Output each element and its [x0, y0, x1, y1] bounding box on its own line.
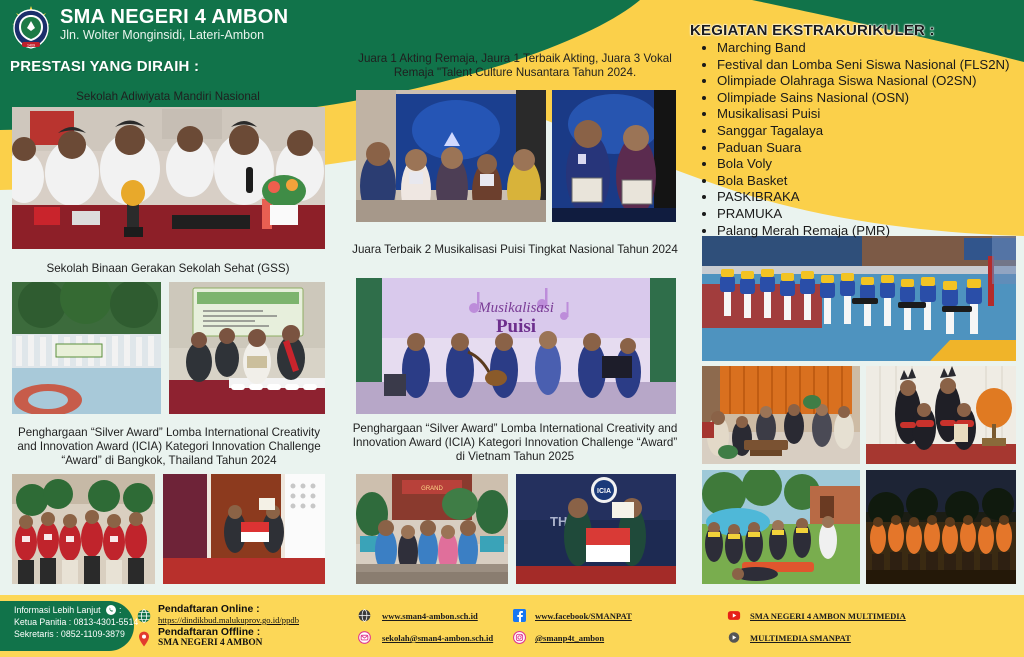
multimedia-smanpat-link[interactable]: MULTIMEDIA SMANPAT [750, 633, 851, 643]
registration-offline-value: SMA NEGERI 4 AMBON [158, 638, 262, 648]
registration-online-label: Pendaftaran Online : [158, 604, 299, 615]
list-item: Marching Band [717, 40, 1024, 57]
extracurricular-title: KEGIATAN EKSTRAKURIKULER : [690, 22, 935, 39]
pmr-first-aid-drill-photo [702, 470, 860, 584]
icia-vietnam-flag-photo: ICIA THE [516, 474, 676, 584]
registration-online-url[interactable]: https://dindikbud.malukuprov.go.id/ppdb [158, 615, 299, 625]
list-item: Palang Merah Remaja (PMR) [717, 223, 1024, 240]
footer-bar: Informasi Lebih Lanjut : Ketua Panitia :… [0, 595, 1024, 657]
email-link[interactable]: sekolah@sman4-ambon.sch.id [382, 633, 493, 643]
list-item: Bola Basket [717, 173, 1024, 190]
school-address: Jln. Wolter Monginsidi, Lateri-Ambon [60, 28, 264, 42]
extracurricular-list: Marching Band Festival dan Lomba Seni Si… [695, 40, 1024, 239]
list-item: Olimpiade Olahraga Siswa Nasional (O2SN) [717, 73, 1024, 90]
globe-icon [137, 609, 150, 622]
info-title-row: Informasi Lebih Lanjut : [14, 605, 121, 617]
list-item: Sanggar Tagalaya [717, 123, 1024, 140]
youtube-multimedia-link[interactable]: SMA NEGERI 4 AMBON MULTIMEDIA [750, 611, 906, 621]
icia-bangkok-flag-photo [163, 474, 325, 584]
list-item: Bola Voly [717, 156, 1024, 173]
school-name: SMA NEGERI 4 AMBON [60, 6, 288, 29]
poster-header: 1409 SMA NEGERI 4 AMBON Jln. Wolter Mong… [0, 0, 660, 100]
school-crest-icon: 1409 [8, 4, 54, 50]
icia-delegation-group-photo [12, 474, 155, 584]
caption-musikalisasi: Juara Terbaik 2 Musikalisasi Puisi Tingk… [352, 243, 678, 257]
pramuka-night-ceremony-photo [866, 470, 1016, 584]
email-icon [358, 631, 371, 644]
instagram-icon [513, 631, 526, 644]
info-colon: : [119, 605, 121, 615]
svg-text:1409: 1409 [27, 43, 35, 47]
poster-root: 1409 SMA NEGERI 4 AMBON Jln. Wolter Mong… [0, 0, 1024, 657]
adiwiyata-award-students-photo [12, 107, 325, 249]
gss-handover-ceremony-photo [169, 282, 325, 414]
talent-culture-winners-photo [552, 90, 676, 222]
facebook-icon [513, 609, 526, 622]
list-item: PASKIBRAKA [717, 189, 1024, 206]
musikalisasi-puisi-performance-photo: Musikalisasi Puisi [356, 278, 676, 414]
list-item: Festival dan Lomba Seni Siswa Nasional (… [717, 57, 1024, 74]
caption-icia-bangkok: Penghargaan “Silver Award” Lomba Interna… [8, 426, 330, 469]
svg-text:Musikalisasi: Musikalisasi [477, 300, 554, 316]
contact-chairman: Ketua Panitia : 0813-4301-5514 [14, 617, 138, 627]
caption-gss: Sekolah Binaan Gerakan Sekolah Sehat (GS… [8, 262, 328, 276]
caption-icia-vietnam: Penghargaan “Silver Award” Lomba Interna… [352, 422, 678, 465]
svg-text:GRAND: GRAND [421, 486, 443, 492]
globe-icon [358, 609, 371, 622]
list-item: Paduan Suara [717, 140, 1024, 157]
youtube-icon [727, 631, 740, 644]
whatsapp-icon [106, 605, 116, 617]
facebook-link[interactable]: www.facebook/SMANPAT [535, 611, 632, 621]
location-pin-icon [137, 631, 150, 644]
contact-secretary: Sekretaris : 0852-1109-3879 [14, 629, 125, 639]
list-item: PRAMUKA [717, 206, 1024, 223]
school-assembly-field-photo [12, 282, 161, 414]
svg-text:ICIA: ICIA [597, 488, 611, 495]
registration-offline-label: Pendaftaran Offline : [158, 627, 262, 638]
info-title: Informasi Lebih Lanjut [14, 605, 101, 615]
instagram-link[interactable]: @smanp4t_ambon [535, 633, 604, 643]
traditional-dance-costume-photo [866, 366, 1016, 464]
website-link[interactable]: www.sman4-ambon.sch.id [382, 611, 478, 621]
youtube-icon [727, 609, 740, 622]
achievements-section-title: PRESTASI YANG DIRAIH : [10, 58, 199, 75]
list-item: Musikalisasi Puisi [717, 106, 1024, 123]
list-item: Olimpiade Sains Nasional (OSN) [717, 90, 1024, 107]
sanggar-indoor-rehearsal-photo [702, 366, 860, 464]
talent-culture-stage-photo [356, 90, 546, 222]
marching-band-parade-photo [702, 236, 1016, 361]
vietnam-delegation-steps-photo: GRAND [356, 474, 508, 584]
